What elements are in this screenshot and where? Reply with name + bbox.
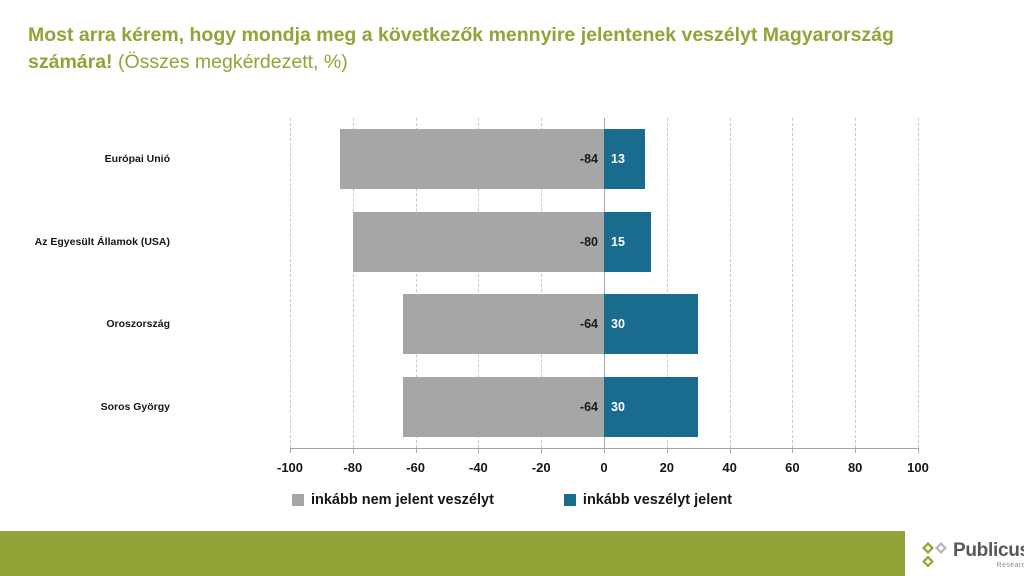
x-axis-tick	[792, 448, 793, 453]
bar-value-label: 15	[611, 235, 625, 249]
bar-value-label: -64	[580, 400, 598, 414]
x-axis-tick-label: -60	[386, 460, 446, 475]
x-axis-tick-label: -40	[448, 460, 508, 475]
bar-value-label: 30	[611, 400, 625, 414]
x-axis-tick-label: 60	[762, 460, 822, 475]
legend-item[interactable]: inkább nem jelent veszélyt	[292, 492, 494, 508]
x-axis-tick-label: 0	[574, 460, 634, 475]
x-axis-tick	[855, 448, 856, 453]
footer-bar	[0, 531, 905, 576]
x-axis-tick	[541, 448, 542, 453]
bar-value-label: 30	[611, 317, 625, 331]
page-title-sub: (Összes megkérdezett, %)	[113, 51, 348, 73]
bar-segment-positive[interactable]: 13	[604, 129, 645, 189]
x-axis-tick-label: -80	[323, 460, 383, 475]
x-axis-tick-label: -20	[511, 460, 571, 475]
x-axis-tick-label: -100	[260, 460, 320, 475]
category-label: Európai Unió	[0, 153, 170, 165]
logo-text: Publicus Research	[953, 541, 1024, 569]
chart-legend: inkább nem jelent veszélytinkább veszély…	[0, 492, 1024, 508]
legend-swatch-icon	[564, 494, 576, 506]
bar-segment-negative[interactable]: -64	[403, 294, 604, 354]
x-axis-tick-label: 40	[700, 460, 760, 475]
x-axis-tick-label: 80	[825, 460, 885, 475]
x-axis-tick	[478, 448, 479, 453]
category-label: Soros György	[0, 401, 170, 413]
bar-segment-negative[interactable]: -80	[353, 212, 604, 272]
bar-value-label: -80	[580, 235, 598, 249]
category-label: Az Egyesült Államok (USA)	[0, 236, 170, 248]
legend-label: inkább nem jelent veszélyt	[311, 492, 494, 508]
bar-group: -8413	[290, 129, 918, 189]
x-axis-tick	[667, 448, 668, 453]
x-axis-tick	[416, 448, 417, 453]
logo-subtitle: Research	[953, 562, 1024, 569]
legend-item[interactable]: inkább veszélyt jelent	[564, 492, 732, 508]
x-axis-tick	[730, 448, 731, 453]
x-axis-tick-label: 100	[888, 460, 948, 475]
gridline	[918, 118, 919, 448]
bar-segment-positive[interactable]: 30	[604, 377, 698, 437]
bar-group: -8015	[290, 212, 918, 272]
category-label: Oroszország	[0, 318, 170, 330]
page-title: Most arra kérem, hogy mondja meg a követ…	[28, 22, 938, 76]
legend-label: inkább veszélyt jelent	[583, 492, 732, 508]
x-axis-tick	[290, 448, 291, 453]
bar-value-label: -84	[580, 152, 598, 166]
bar-group: -6430	[290, 294, 918, 354]
bar-value-label: -64	[580, 317, 598, 331]
x-axis-tick	[604, 448, 605, 453]
x-axis-tick	[353, 448, 354, 453]
x-axis-tick-label: 20	[637, 460, 697, 475]
bar-segment-positive[interactable]: 15	[604, 212, 651, 272]
bar-segment-positive[interactable]: 30	[604, 294, 698, 354]
legend-swatch-icon	[292, 494, 304, 506]
x-axis-tick	[918, 448, 919, 453]
chart: -100-80-60-40-20020406080100-8413Európai…	[0, 100, 1024, 500]
publicus-logo: Publicus Research	[921, 541, 1024, 569]
bar-segment-negative[interactable]: -84	[340, 129, 604, 189]
logo-wordmark: Publicus	[953, 541, 1024, 560]
bar-value-label: 13	[611, 152, 625, 166]
bar-segment-negative[interactable]: -64	[403, 377, 604, 437]
publicus-diamond-logo-icon	[921, 541, 948, 569]
bar-group: -6430	[290, 377, 918, 437]
plot-area: -100-80-60-40-20020406080100-8413Európai…	[290, 118, 918, 448]
